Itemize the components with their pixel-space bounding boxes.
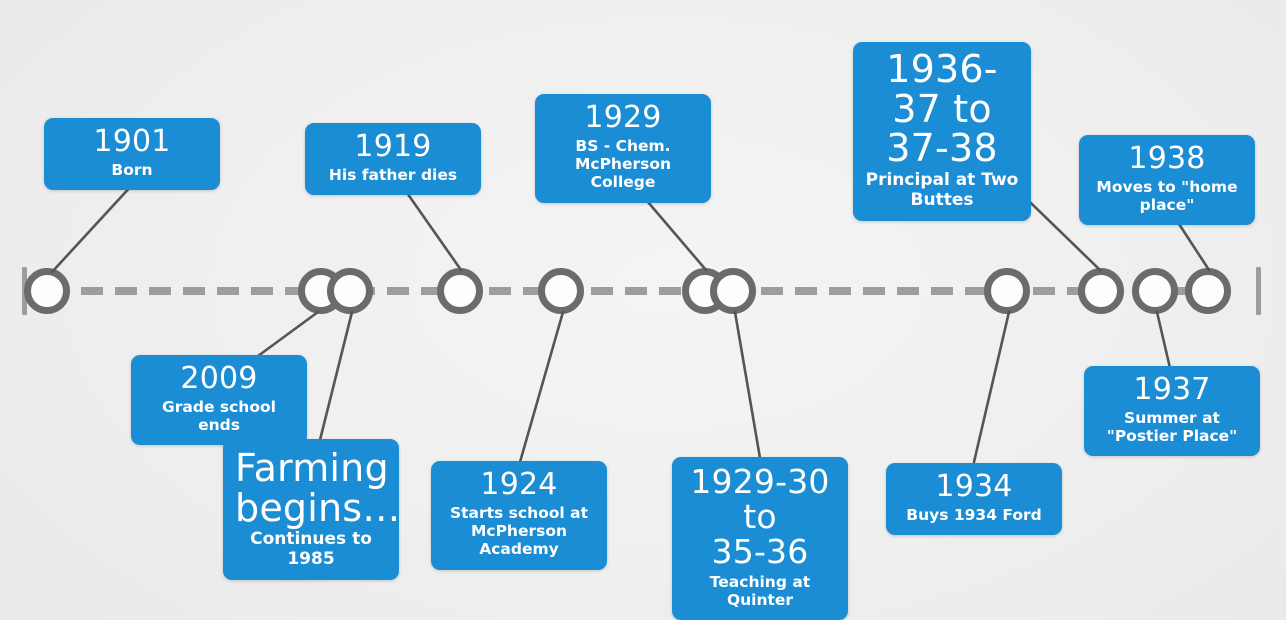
event-subtitle: Principal at Two Buttes [865, 170, 1019, 210]
connector-1929-30 [735, 312, 760, 458]
connector-1937 [1157, 312, 1170, 368]
event-subtitle: His father dies [317, 166, 469, 184]
event-subtitle: Buys 1934 Ford [898, 506, 1050, 524]
event-card-1929[interactable]: 1929 BS - Chem. McPherson College [535, 94, 711, 203]
node-1919[interactable] [437, 268, 483, 314]
event-subtitle: Teaching at Quinter [684, 573, 836, 610]
event-card-2009[interactable]: 2009 Grade school ends [131, 355, 307, 445]
event-card-1937[interactable]: 1937 Summer at "Postier Place" [1084, 366, 1260, 456]
event-subtitle: BS - Chem. McPherson College [547, 137, 699, 192]
node-1924[interactable] [538, 268, 584, 314]
event-title: 1938 [1091, 143, 1243, 175]
event-subtitle: Continues to 1985 [235, 529, 387, 569]
event-card-1938[interactable]: 1938 Moves to "home place" [1079, 135, 1255, 225]
event-title: 1919 [317, 131, 469, 163]
node-farming[interactable] [327, 268, 373, 314]
node-1938[interactable] [1185, 268, 1231, 314]
event-title: 1929-30 to 35-36 [684, 465, 836, 570]
connector-1901 [52, 184, 133, 272]
event-subtitle: Starts school at McPherson Academy [443, 504, 595, 559]
event-card-1919[interactable]: 1919 His father dies [305, 123, 481, 195]
event-card-1924[interactable]: 1924 Starts school at McPherson Academy [431, 461, 607, 570]
connector-farming [320, 312, 352, 440]
event-subtitle: Grade school ends [143, 398, 295, 435]
event-card-farming[interactable]: Farming begins… Continues to 1985 [223, 439, 399, 580]
node-1936-38[interactable] [1078, 268, 1124, 314]
event-title: Farming begins… [235, 449, 387, 528]
timeline-axis [47, 287, 1210, 295]
node-1937[interactable] [1132, 268, 1178, 314]
event-title: 1937 [1096, 374, 1248, 406]
connector-1934 [974, 312, 1009, 462]
connector-1919 [405, 190, 461, 270]
event-title: 1929 [547, 102, 699, 134]
event-title: 1924 [443, 469, 595, 501]
event-subtitle: Summer at "Postier Place" [1096, 409, 1248, 446]
connector-1924 [520, 312, 563, 462]
event-card-1901[interactable]: 1901 Born [44, 118, 220, 190]
event-title: 2009 [143, 363, 295, 395]
node-1934[interactable] [984, 268, 1030, 314]
timeline-diagram: 1901 Born 2009 Grade school ends Farming… [0, 0, 1286, 615]
event-card-1934[interactable]: 1934 Buys 1934 Ford [886, 463, 1062, 535]
event-subtitle: Moves to "home place" [1091, 178, 1243, 215]
connector-2009 [258, 312, 318, 356]
event-card-1929-30[interactable]: 1929-30 to 35-36 Teaching at Quinter [672, 457, 848, 620]
axis-end-cap [1256, 267, 1261, 315]
event-title: 1936-37 to 37-38 [865, 50, 1019, 169]
event-card-1936-38[interactable]: 1936-37 to 37-38 Principal at Two Buttes [853, 42, 1031, 221]
event-subtitle: Born [56, 161, 208, 179]
event-title: 1934 [898, 471, 1050, 503]
node-1901[interactable] [24, 268, 70, 314]
event-title: 1901 [56, 126, 208, 158]
node-1929-30-teaching[interactable] [710, 268, 756, 314]
